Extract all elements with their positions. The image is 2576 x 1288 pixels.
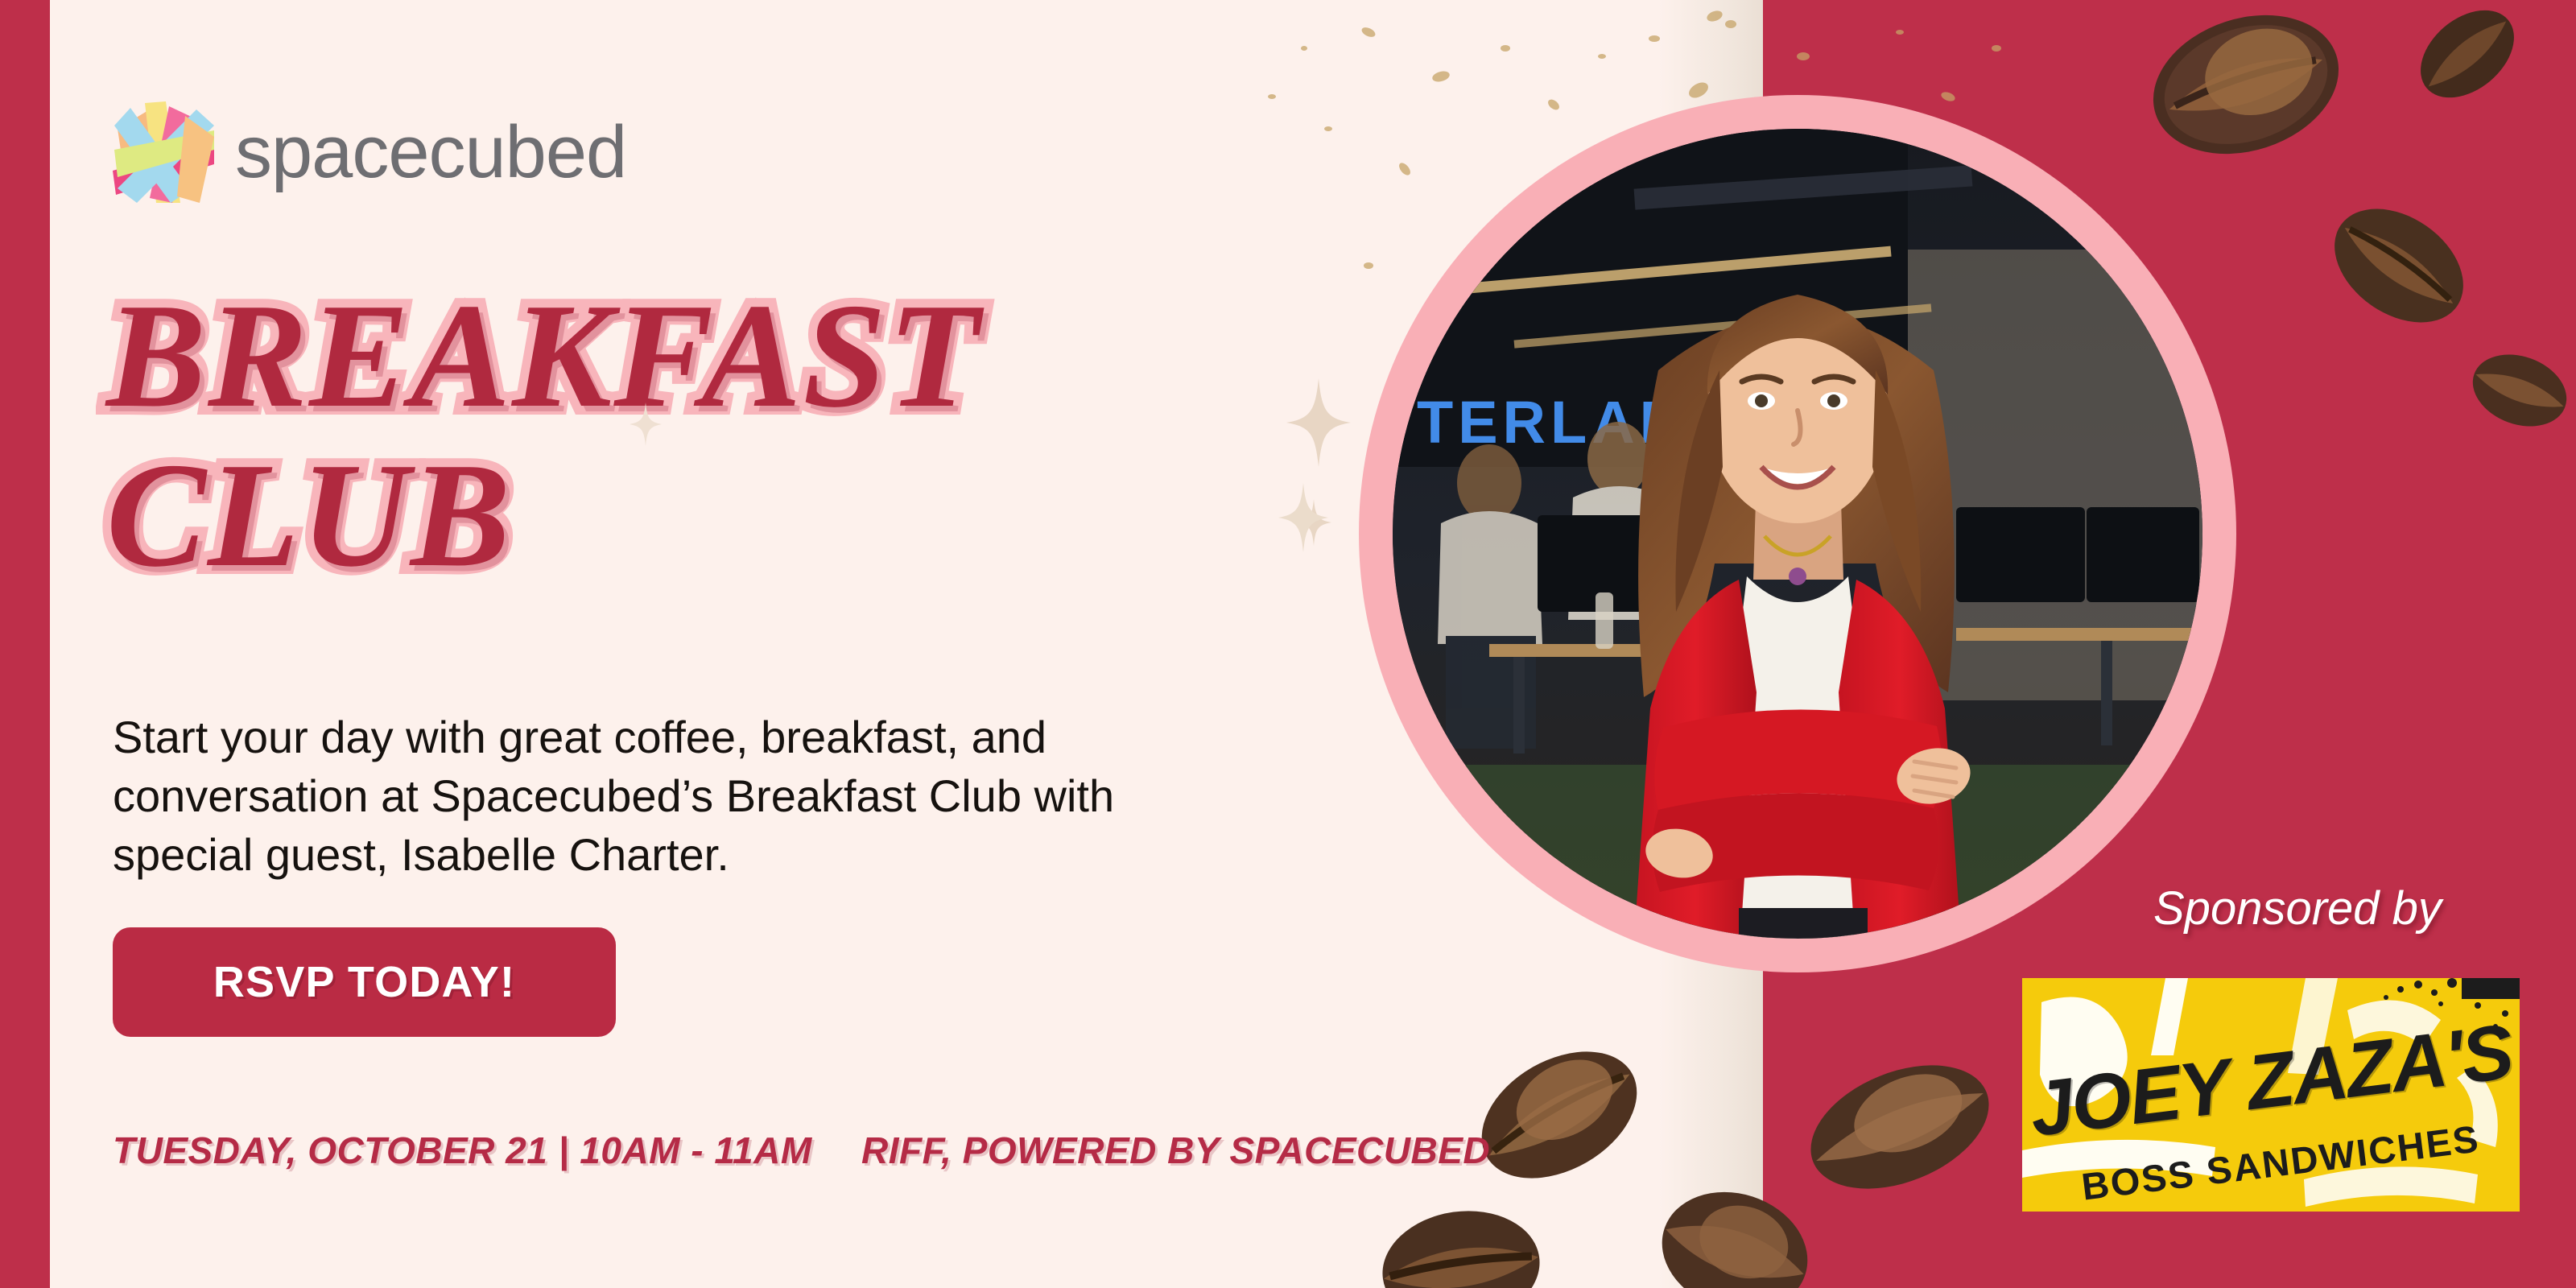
page-title: BREAKFAST CLUB xyxy=(106,283,980,588)
brand-logo[interactable]: spacecubed xyxy=(113,101,626,203)
event-venue: RIFF, POWERED BY SPACECUBED xyxy=(861,1129,1490,1172)
portrait-illustration: TERLABS TERLABS xyxy=(1393,129,2202,939)
speaker-portrait-frame: TERLABS TERLABS xyxy=(1359,95,2236,972)
sponsored-by-label: Sponsored by xyxy=(2153,881,2442,935)
title-line-2: CLUB xyxy=(106,443,980,588)
poster-canvas: spacecubed BREAKFAST CLUB Start your day… xyxy=(0,0,2576,1288)
left-content-column: spacecubed BREAKFAST CLUB Start your day… xyxy=(113,0,1481,1288)
title-line-1: BREAKFAST xyxy=(106,283,980,428)
sponsor-logo[interactable]: JOEY ZAZA'S BOSS SANDWICHES xyxy=(2022,978,2520,1212)
spacecubed-starburst-icon xyxy=(113,101,214,203)
event-description: Start your day with great coffee, breakf… xyxy=(113,708,1256,884)
rsvp-button[interactable]: RSVP TODAY! xyxy=(113,927,616,1037)
speaker-portrait: TERLABS TERLABS xyxy=(1393,129,2202,939)
event-datetime: TUESDAY, OCTOBER 21 | 10AM - 11AM xyxy=(113,1129,812,1172)
brand-wordmark: spacecubed xyxy=(235,115,626,189)
